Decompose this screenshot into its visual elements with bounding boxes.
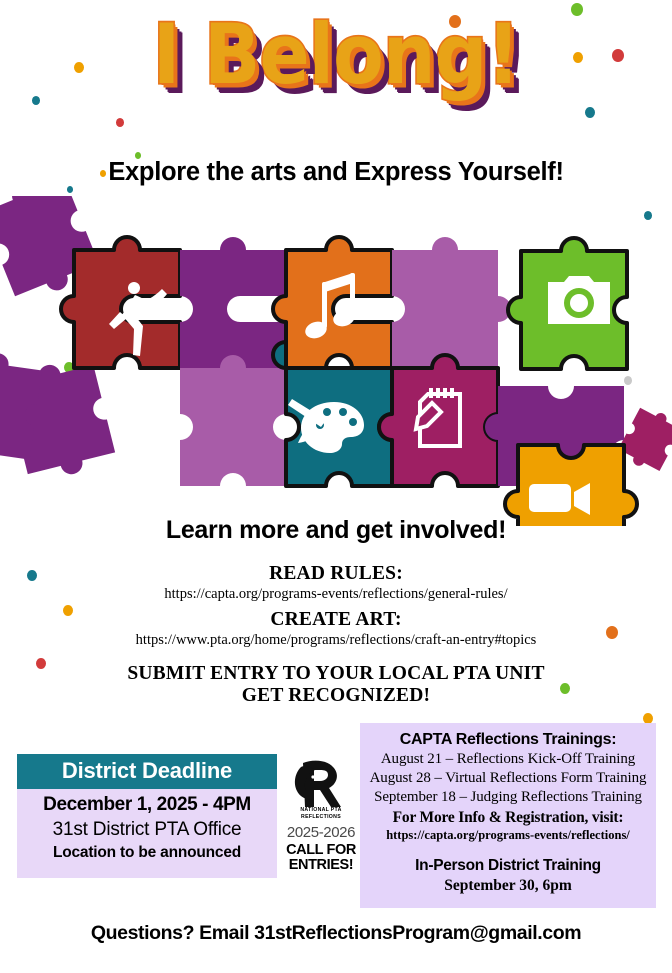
capta-trainings-box: CAPTA Reflections Trainings: August 21 –… [360, 723, 656, 908]
cta-line2: ENTRIES! [283, 858, 359, 873]
puzzle-piece-purple-medium [392, 237, 511, 368]
district-deadline-heading: District Deadline [17, 754, 277, 789]
reflections-logo-block: NATIONAL PTA REFLECTIONS 2025-2026 CALL … [283, 757, 359, 873]
read-rules-url[interactable]: https://capta.org/programs-events/reflec… [0, 586, 672, 603]
reflections-r-logo-icon [283, 757, 359, 809]
confetti-dot [571, 3, 583, 16]
deadline-place: 31st District PTA Office [17, 819, 277, 841]
puzzle-piece-film [505, 445, 637, 526]
deadline-note: Location to be announced [17, 844, 277, 862]
confetti-dot [585, 107, 595, 118]
puzzle-piece-literature [379, 355, 498, 486]
puzzle-piece-purple-light [180, 355, 286, 486]
logo-org-line2: REFLECTIONS [283, 814, 359, 821]
call-for-entries: CALL FOR ENTRIES! [283, 843, 359, 873]
trainings-more-info-label: For More Info & Registration, visit: [360, 809, 656, 827]
deadline-date: December 1, 2025 - 4PM [17, 794, 277, 816]
cta-line1: CALL FOR [283, 843, 359, 858]
get-recognized-label: GET RECOGNIZED! [0, 685, 672, 707]
training-item: August 28 – Virtual Reflections Form Tra… [360, 770, 656, 787]
reflections-years: 2025-2026 [283, 824, 359, 841]
confetti-dot [116, 118, 124, 127]
confetti-dot [32, 96, 40, 105]
create-art-label: CREATE ART: [0, 609, 672, 631]
district-deadline-body: December 1, 2025 - 4PM 31st District PTA… [17, 789, 277, 862]
read-rules-label: READ RULES: [0, 563, 672, 585]
subtitle: Explore the arts and Express Yourself! [0, 158, 672, 187]
steps-section: READ RULES: https://capta.org/programs-e… [0, 563, 672, 707]
in-person-training-date: September 30, 6pm [360, 877, 656, 895]
training-item: August 21 – Reflections Kick-Off Trainin… [360, 751, 656, 768]
reflections-org-text: NATIONAL PTA REFLECTIONS [283, 807, 359, 821]
flyer-page: I Belong! Explore the arts and Express Y… [0, 0, 672, 973]
in-person-training-title: In-Person District Training [360, 857, 656, 875]
puzzle-graphic [0, 196, 672, 526]
page-title: I Belong! [153, 14, 520, 97]
training-item: September 18 – Judging Reflections Train… [360, 789, 656, 806]
learn-more-heading: Learn more and get involved! [0, 516, 672, 545]
puzzle-piece-photography [508, 238, 627, 369]
district-deadline-box: District Deadline December 1, 2025 - 4PM… [17, 754, 277, 878]
puzzle-piece-dance [61, 237, 180, 368]
create-art-url[interactable]: https://www.pta.org/home/programs/reflec… [0, 632, 672, 649]
trainings-title: CAPTA Reflections Trainings: [360, 731, 656, 749]
trainings-url[interactable]: https://capta.org/programs-events/reflec… [360, 828, 656, 843]
contact-footer: Questions? Email 31stReflectionsProgram@… [0, 922, 672, 945]
puzzle-piece-purple-dark [180, 237, 286, 368]
puzzle-piece-music [273, 237, 392, 368]
title-banner: I Belong! [0, 18, 672, 92]
submit-entry-label: SUBMIT ENTRY TO YOUR LOCAL PTA UNIT [0, 663, 672, 685]
